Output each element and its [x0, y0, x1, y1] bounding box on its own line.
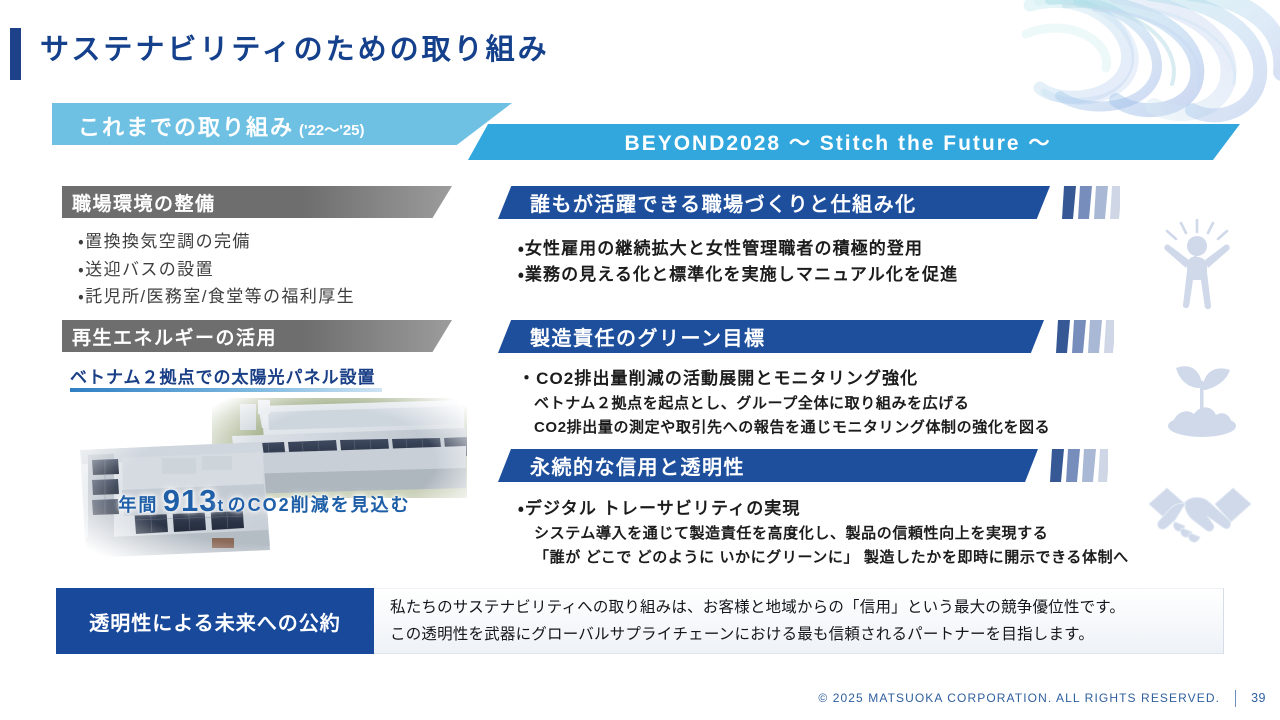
trust-bullets: ・デジタル トレーサビリティの実現 システム導入を通じて製造責任を高度化し、製品…	[518, 496, 1129, 569]
section-header-workplace-label: 職場環境の整備	[72, 186, 452, 218]
list-item: ・女性雇用の継続拡大と女性管理職者の積極的登用	[518, 236, 958, 262]
footer: © 2025 MATSUOKA CORPORATION. ALL RIGHTS …	[818, 688, 1266, 708]
list-item: ・送迎バスの設置	[78, 256, 355, 284]
caption-number: 913	[163, 483, 218, 518]
beyond-band-label: BEYOND2028 〜 Stitch the Future 〜	[468, 124, 1208, 160]
page-number: 39	[1251, 691, 1266, 705]
section-header-trust-label: 永続的な信用と透明性	[498, 449, 1070, 482]
list-item: ・業務の見える化と標準化を実施しマニュアル化を促進	[518, 262, 958, 288]
ribbon-decoration-graphic	[1020, 0, 1280, 125]
list-item: 「誰が どこで どのように いかにグリーンに」 製造したかを即時に開示できる体制…	[534, 546, 1129, 569]
page-title: サステナビリティのための取り組み	[40, 33, 550, 68]
person-cheering-icon	[1145, 218, 1250, 318]
list-item: ・置換換気空調の完備	[78, 228, 355, 256]
pledge-badge: 透明性による未来への公約	[56, 588, 374, 654]
pledge-badge-label: 透明性による未来への公約	[89, 607, 340, 636]
list-item: システム導入を通じて製造責任を高度化し、製品の信頼性向上を実現する	[534, 522, 1129, 545]
title-accent-bar	[10, 28, 21, 80]
caption-suffix: のCO2削減を見込む	[228, 495, 411, 515]
past-efforts-title: これまでの取り組み	[78, 110, 294, 142]
caption-prefix: 年間	[118, 495, 158, 515]
section-header-renewable-label: 再生エネルギーの活用	[72, 320, 452, 352]
solar-subheading-underline	[70, 388, 382, 392]
solar-subheading: ベトナム２拠点での太陽光パネル設置	[70, 363, 376, 388]
caption-unit: t	[218, 496, 224, 515]
footer-divider	[1235, 690, 1236, 707]
stripe-decoration	[1056, 320, 1114, 353]
pledge-line-1: 私たちのサステナビリティへの取り組みは、お客様と地域からの「信用」という最大の競…	[390, 594, 1223, 621]
handshake-icon	[1145, 478, 1255, 558]
sprout-icon	[1152, 358, 1248, 444]
stripe-decoration	[1062, 186, 1120, 219]
photo-caption: 年間 913t のCO2削減を見込む	[62, 483, 467, 519]
section-header-green-goal-label: 製造責任のグリーン目標	[498, 320, 1076, 353]
list-item: ・託児所/医務室/食堂等の福利厚生	[78, 283, 355, 311]
workplace-bullet-list: ・置換換気空調の完備 ・送迎バスの設置 ・託児所/医務室/食堂等の福利厚生	[78, 228, 355, 311]
section-header-workplace-everyone-label: 誰もが活躍できる職場づくりと仕組み化	[498, 186, 1082, 219]
stripe-decoration	[1050, 449, 1108, 482]
copyright-text: © 2025 MATSUOKA CORPORATION. ALL RIGHTS …	[818, 691, 1220, 705]
pledge-body: 私たちのサステナビリティへの取り組みは、お客様と地域からの「信用」という最大の競…	[374, 588, 1224, 654]
past-efforts-band-label: これまでの取り組み ('22〜'25)	[78, 110, 365, 140]
green-goal-bullets: ・CO2排出量削減の活動展開とモニタリング強化 ベトナム２拠点を起点とし、グルー…	[518, 366, 1050, 439]
list-item: ベトナム２拠点を起点とし、グループ全体に取り組みを広げる	[534, 392, 1050, 415]
list-item: CO2排出量の測定や取引先への報告を通じモニタリング体制の強化を図る	[534, 416, 1050, 439]
past-efforts-years: ('22〜'25)	[299, 119, 365, 140]
list-item: ・CO2排出量削減の活動展開とモニタリング強化	[518, 366, 1050, 392]
slide-root: サステナビリティのための取り組み これまでの取り組み ('22〜'25) BEY…	[0, 0, 1280, 720]
pledge-line-2: この透明性を武器にグローバルサプライチェーンにおける最も信頼されるパートナーを目…	[390, 621, 1223, 648]
list-item: ・デジタル トレーサビリティの実現	[518, 496, 1129, 522]
workplace-everyone-bullets: ・女性雇用の継続拡大と女性管理職者の積極的登用 ・業務の見える化と標準化を実施し…	[518, 236, 958, 289]
